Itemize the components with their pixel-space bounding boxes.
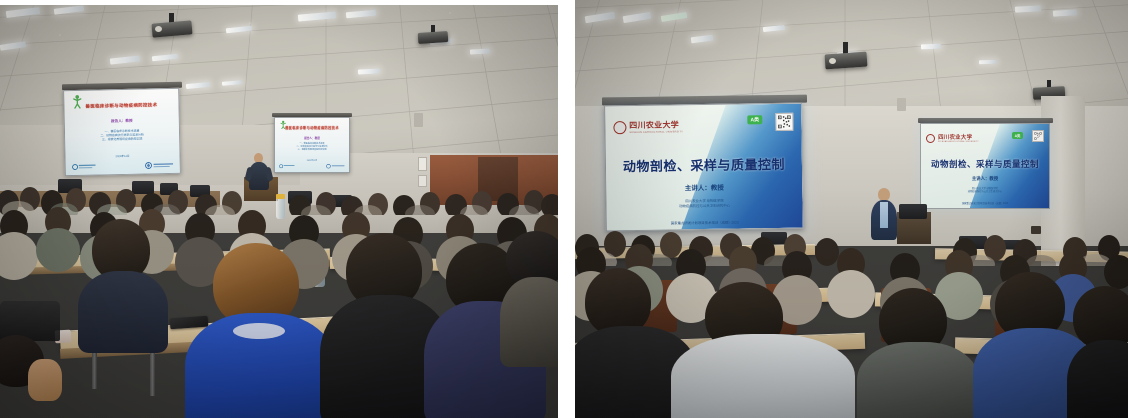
student-torso-white-shirt [671,334,855,418]
ceiling-projector [418,25,448,47]
slide-subtitle: 报告人：教授 [284,136,340,140]
sicau-seal-icon [926,134,935,143]
slide-badge: A类 [747,115,762,124]
sicau-name: 四川农业大学 SICHUAN AGRICULTURAL UNIVERSITY [629,119,683,134]
slide-title: 动物剖检、采样与质量控制 [620,153,789,174]
slide-content: 兽医临床诊断与动物疫病防控技术 报告人：教授 一、兽医临床诊断技术进展 二、动物… [275,118,349,172]
main-projection-screen: 四川农业大学 SICHUAN AGRICULTURAL UNIVERSITY A… [604,103,804,232]
sicau-seal-icon [613,121,626,134]
desk-leg [92,349,97,389]
sicau-name: 四川农业大学 SICHUAN AGRICULTURAL UNIVERSITY [938,133,979,143]
student-foreground-white-shirt [671,282,851,418]
ceiling-light [1053,9,1077,16]
main-screen-assembly: 四川农业大学 SICHUAN AGRICULTURAL UNIVERSITY A… [602,96,807,236]
university-name: 四川农业大学 [629,119,683,131]
secondary-projection-screen: 四川农业大学 SICHUAN AGRICULTURAL UNIVERSITY A… [920,123,1050,209]
main-projection-screen: 兽医临床诊断与动物疫病防控技术 报告人：教授 一、兽医临床诊断技术进展 二、动物… [63,88,181,176]
qr-code-icon [1032,130,1044,142]
projector-lens [155,26,162,32]
main-screen-assembly: 兽医临床诊断与动物疫病防控技术 报告人：教授 一、兽医临床诊断技术进展 二、动物… [62,83,182,183]
institute-logo-icon [279,163,295,169]
slide-affiliation: 四川农业大学 动物医学院 动物疫病防控与公共卫生研究中心 [921,188,1049,194]
university-pinyin: SICHUAN AGRICULTURAL UNIVERSITY [629,130,683,134]
slide-title: 兽医临床诊断与动物疫病防控技术 [71,103,171,110]
student-foreground [78,219,168,339]
figure-two-panel-photos: 兽医临床诊断与动物疫病防控技术 报告人：教授 一、兽医临床诊断技术进展 二、动物… [0,0,1128,418]
university-logo-icon [326,163,345,169]
slide-body: 一、兽医临床诊断技术进展 二、动物疫病流行病学与监测分析 三、规模化养殖场疫病防… [76,128,167,143]
lecture-hall-photo-left: 兽医临床诊断与动物疫病防控技术 报告人：教授 一、兽医临床诊断技术进展 二、动物… [0,5,558,418]
bottle-cap [276,194,285,199]
student-foreground-beanie [500,231,558,361]
hoodie-collar [233,323,285,339]
qr-code-pattern [777,114,791,128]
ceiling-light [470,48,490,54]
desk-leg [150,351,155,396]
ceiling-projector [152,13,192,39]
student-foreground-right [857,288,977,418]
wall-speaker-box [897,98,906,111]
institute-logo-icon [71,161,96,172]
slide-title: 动物剖检、采样与质量控制 [930,158,1040,170]
student-foreground-blue [185,243,335,418]
projector-lens [829,58,836,64]
ceiling-projector [825,42,867,70]
sicau-logo: 四川农业大学 SICHUAN AGRICULTURAL UNIVERSITY [613,114,683,140]
secondary-screen-assembly: 四川农业大学 SICHUAN AGRICULTURAL UNIVERSITY A… [918,118,1053,223]
student-left-edge [0,335,80,418]
projector-body [418,31,449,44]
slide-body-line: 三、规模化养殖场疫病防控实践 [282,149,341,152]
slide-badge: A类 [1012,132,1024,139]
slide-presenter: 主讲人：教授 [921,176,1049,182]
slide-subtitle: 报告人：教授 [78,118,165,125]
student-hand [28,359,62,401]
qr-code-pattern [1034,132,1042,140]
laptop-on-lectern [899,204,927,219]
qr-code-icon [775,112,793,130]
slide-date: 2023年11月 [275,159,349,162]
ceiling-light [921,44,941,50]
student-torso [857,342,979,418]
student-torso [78,271,168,353]
lecture-hall-photo-right: 四川农业大学 SICHUAN AGRICULTURAL UNIVERSITY A… [575,0,1128,418]
slide-content: 四川农业大学 SICHUAN AGRICULTURAL UNIVERSITY A… [605,104,803,231]
university-logo-icon [144,159,174,170]
student-torso [500,277,558,367]
slide-date: 2023年11月 [65,153,179,159]
ceiling-light [979,60,997,65]
slide-content: 兽医临床诊断与动物疫病防控技术 报告人：教授 一、兽医临床诊断技术进展 二、动物… [64,89,180,175]
slide-footer: 国家重点研发计划项目技术培训（成都）·2023 [921,201,1049,205]
wall-speaker-box [414,113,423,127]
student-torso [1067,340,1128,418]
sicau-logo: 四川农业大学 SICHUAN AGRICULTURAL UNIVERSITY [926,130,979,147]
slide-body-line: 三、规模化养殖场疫病防控实践 [77,136,168,142]
wall-notice-sign [418,157,427,171]
university-pinyin: SICHUAN AGRICULTURAL UNIVERSITY [938,141,979,143]
slide-title: 兽医临床诊断与动物疫病防控技术 [279,127,344,130]
secondary-projection-screen: 兽医临床诊断与动物疫病防控技术 报告人：教授 一、兽医临床诊断技术进展 二、动物… [274,117,350,173]
affiliation-line: 动物疫病防控与公共卫生研究中心 [921,191,1049,194]
slide-body: 一、兽医临床诊断技术进展 二、动物疫病流行病学与监测分析 三、规模化养殖场疫病防… [282,143,341,152]
student-right-edge [1067,286,1128,418]
slide-content: 四川农业大学 SICHUAN AGRICULTURAL UNIVERSITY A… [921,124,1049,208]
